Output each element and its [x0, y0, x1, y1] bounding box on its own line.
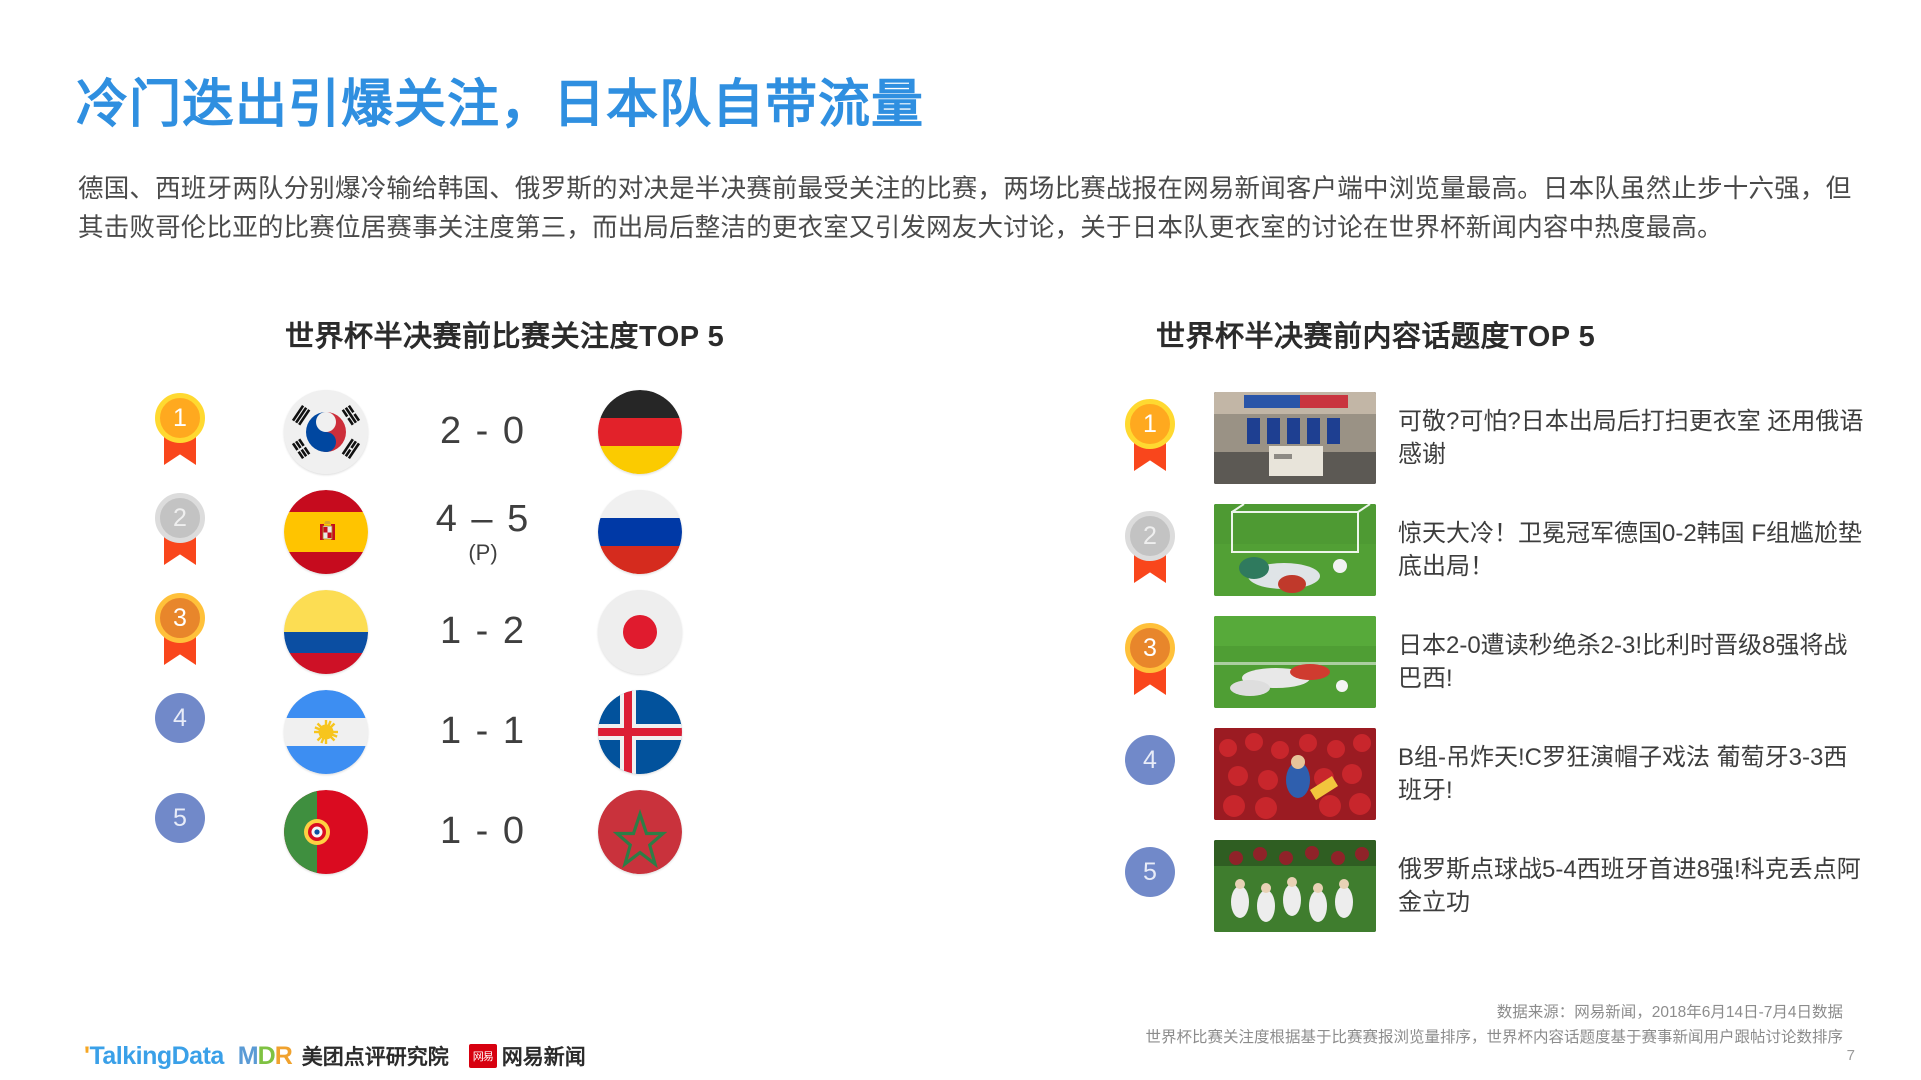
table-row: 2: [150, 482, 850, 582]
rank-number: 5: [155, 793, 205, 843]
rank-badge: 2: [150, 493, 210, 571]
flag-portugal-icon: [284, 790, 368, 874]
score-value: 1 - 0: [440, 810, 526, 852]
logo-mdr-r: R: [275, 1042, 292, 1070]
medal-icon: 3: [1121, 623, 1179, 699]
rank-number: 2: [1125, 511, 1175, 561]
flag-japan-icon: [598, 590, 682, 674]
match-score: 4 – 5 (P): [368, 500, 598, 565]
source-line-1: 数据来源：网易新闻，2018年6月14日-7月4日数据: [1145, 1000, 1843, 1025]
logo-meituan-research: 美团点评研究院: [302, 1041, 449, 1071]
rank-circle-icon: 5: [1121, 847, 1179, 923]
logo-talkingdata-text: TalkingData: [89, 1042, 223, 1070]
score-value: 1 - 2: [440, 610, 526, 652]
flag-south-korea-icon: [284, 390, 368, 474]
slide-root: 冷门迭出引爆关注，日本队自带流量 德国、西班牙两队分别爆冷输给韩国、俄罗斯的对决…: [0, 0, 1921, 1080]
match-score: 1 - 0: [368, 812, 598, 852]
rank-number: 4: [1125, 735, 1175, 785]
rank-badge: 3: [1120, 623, 1180, 701]
page-number: 7: [1847, 1047, 1855, 1064]
page-title: 冷门迭出引爆关注，日本队自带流量: [76, 62, 924, 137]
rank-number: 3: [1125, 623, 1175, 673]
rank-number: 2: [155, 493, 205, 543]
medal-icon: 3: [151, 593, 209, 669]
lede-paragraph: 德国、西班牙两队分别爆冷输给韩国、俄罗斯的对决是半决赛前最受关注的比赛，两场比赛…: [78, 170, 1868, 248]
rank-badge: 5: [150, 793, 210, 871]
flag-colombia-icon: [284, 590, 368, 674]
topic-title[interactable]: 可敬?可怕?日本出局后打扫更衣室 还用俄语感谢: [1398, 405, 1868, 471]
source-note: 数据来源：网易新闻，2018年6月14日-7月4日数据 世界杯比赛关注度根据基于…: [1145, 1000, 1843, 1050]
logo-talkingdata: 'TalkingData: [84, 1042, 224, 1071]
flag-iceland-icon: [598, 690, 682, 774]
medal-icon: 1: [1121, 399, 1179, 475]
topic-title[interactable]: B组-吊炸天!C罗狂演帽子戏法 葡萄牙3-3西班牙!: [1398, 741, 1868, 807]
rank-badge: 4: [1120, 735, 1180, 813]
match-score: 2 - 0: [368, 412, 598, 452]
topic-title[interactable]: 日本2-0遭读秒绝杀2-3!比利时晋级8强将战巴西!: [1398, 629, 1868, 695]
score-note: (P): [368, 541, 598, 564]
section-title-topics: 世界杯半决赛前内容话题度TOP 5: [1156, 313, 1595, 355]
rank-circle-icon: 4: [1121, 735, 1179, 811]
flag-germany-icon: [598, 390, 682, 474]
rank-number: 1: [155, 393, 205, 443]
logo-mdr: MDR: [238, 1042, 292, 1071]
flag-russia-icon: [598, 490, 682, 574]
logo-mdr-m: M: [238, 1042, 258, 1070]
medal-icon: 2: [1121, 511, 1179, 587]
logo-mdr-d: D: [258, 1042, 275, 1070]
table-row: 4: [150, 682, 850, 782]
table-row: 1: [150, 382, 850, 482]
rank-number: 5: [1125, 847, 1175, 897]
thumbnail-locker-room[interactable]: [1214, 392, 1376, 484]
score-value: 2 - 0: [440, 410, 526, 452]
list-item: 1: [1120, 382, 1880, 494]
thumbnail-goalmouth-save[interactable]: [1214, 504, 1376, 596]
list-item: 5: [1120, 830, 1880, 942]
flag-argentina-icon: [284, 690, 368, 774]
rank-badge: 3: [150, 593, 210, 671]
thumbnail-players-on-pitch[interactable]: [1214, 616, 1376, 708]
table-row: 5 1 - 0: [150, 782, 850, 882]
list-item: 2 惊天大冷！卫冕冠军德国0-2韩国 F组尴尬垫底出局！: [1120, 494, 1880, 606]
medal-icon: 2: [151, 493, 209, 569]
rank-badge: 4: [150, 693, 210, 771]
score-value: 1 - 1: [440, 710, 526, 752]
rank-circle-icon: 4: [151, 693, 209, 769]
footer-logos: 'TalkingData MDR 美团点评研究院 网易 网易新闻: [84, 1041, 586, 1071]
medal-icon: 1: [151, 393, 209, 469]
match-ranking-list: 1: [150, 382, 850, 882]
source-line-2: 世界杯比赛关注度根据基于比赛赛报浏览量排序，世界杯内容话题度基于赛事新闻用户跟帖…: [1145, 1025, 1843, 1050]
rank-badge: 5: [1120, 847, 1180, 925]
logo-netease-text: 网易新闻: [502, 1041, 586, 1071]
flag-spain-icon: [284, 490, 368, 574]
rank-number: 4: [155, 693, 205, 743]
list-item: 3 日本2-0遭读秒绝杀2-3!比利时晋级8强将战巴西!: [1120, 606, 1880, 718]
section-title-matches: 世界杯半决赛前比赛关注度TOP 5: [285, 313, 724, 355]
thumbnail-crowd-in-red[interactable]: [1214, 728, 1376, 820]
logo-netease: 网易 网易新闻: [469, 1041, 586, 1071]
thumbnail-team-celebration[interactable]: [1214, 840, 1376, 932]
rank-badge: 1: [1120, 399, 1180, 477]
topic-title[interactable]: 俄罗斯点球战5-4西班牙首进8强!科克丢点阿金立功: [1398, 853, 1868, 919]
table-row: 3 1 - 2: [150, 582, 850, 682]
rank-badge: 2: [1120, 511, 1180, 589]
match-score: 1 - 2: [368, 612, 598, 652]
netease-mark-icon: 网易: [469, 1044, 497, 1068]
score-value: 4 – 5: [436, 498, 531, 540]
list-item: 4: [1120, 718, 1880, 830]
rank-circle-icon: 5: [151, 793, 209, 869]
rank-number: 1: [1125, 399, 1175, 449]
rank-badge: 1: [150, 393, 210, 471]
rank-number: 3: [155, 593, 205, 643]
match-score: 1 - 1: [368, 712, 598, 752]
flag-morocco-icon: [598, 790, 682, 874]
topic-ranking-list: 1: [1120, 382, 1880, 942]
topic-title[interactable]: 惊天大冷！卫冕冠军德国0-2韩国 F组尴尬垫底出局！: [1398, 517, 1868, 583]
